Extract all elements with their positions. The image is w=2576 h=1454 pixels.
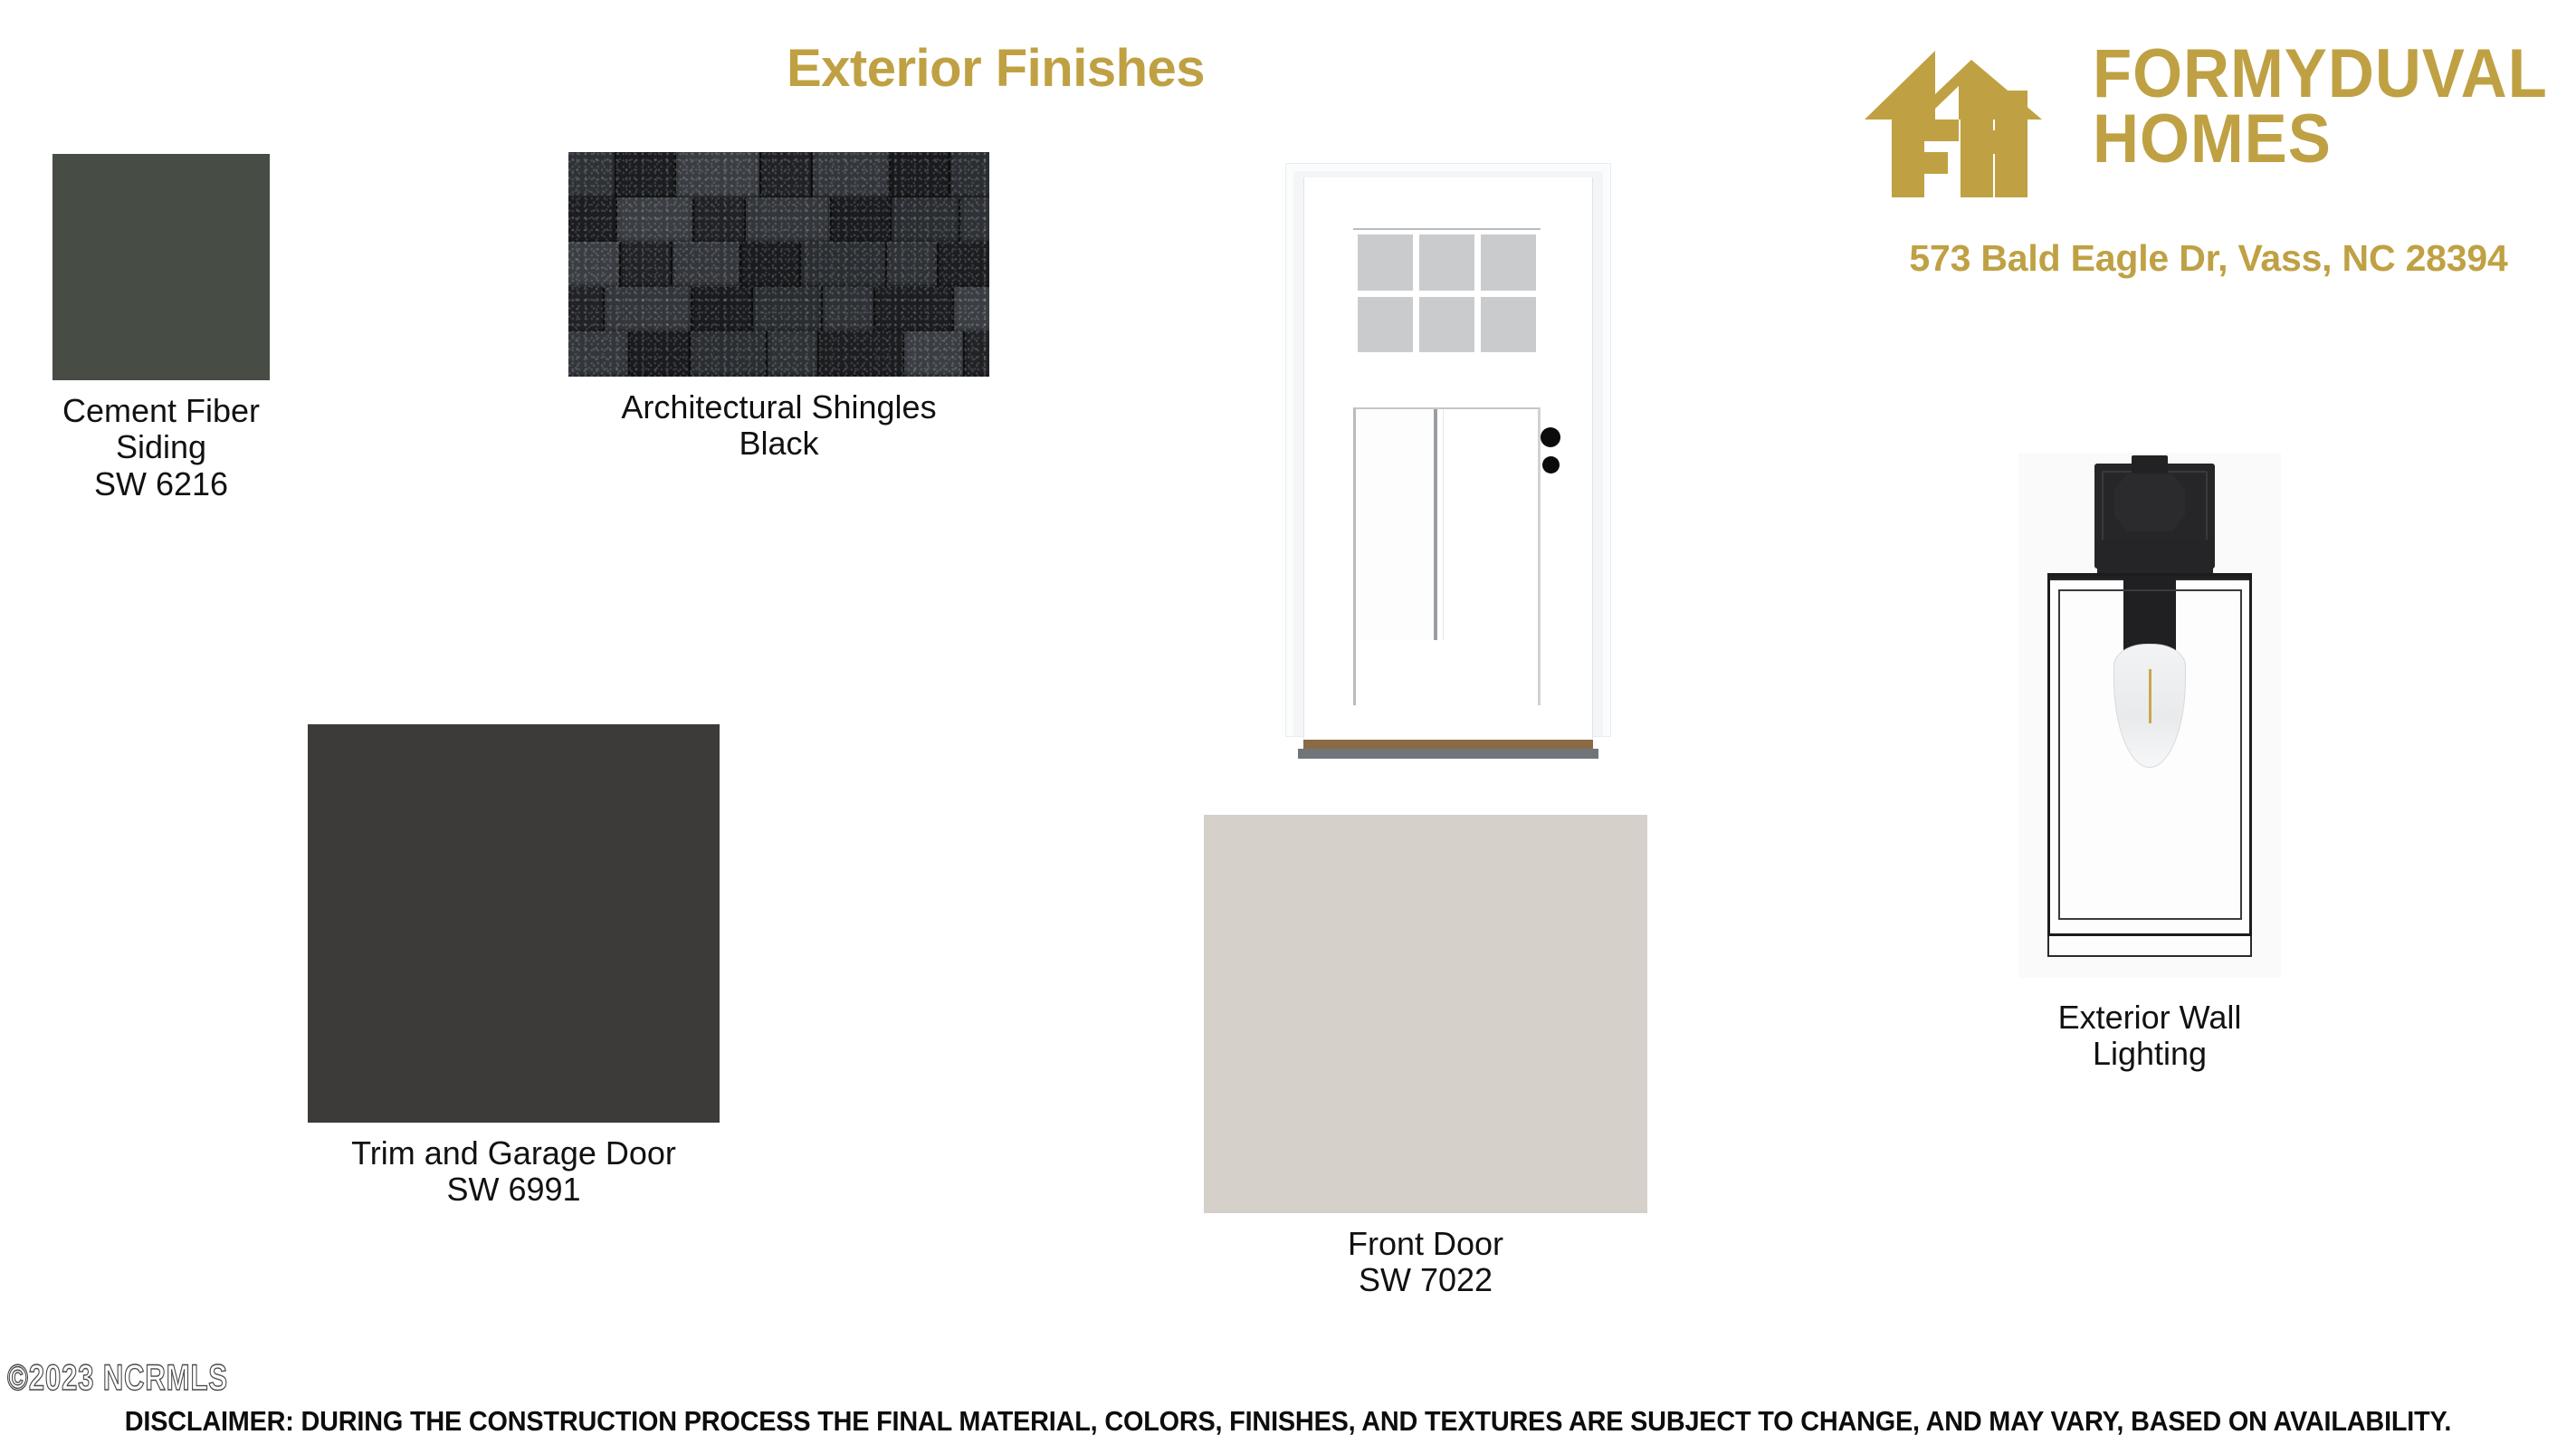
shingle-tab	[950, 152, 989, 198]
shingle-tab	[568, 331, 630, 377]
shingle-tab	[875, 287, 954, 333]
finish-label: Trim and Garage Door	[351, 1134, 676, 1172]
door-lite	[1419, 234, 1474, 291]
shingle-tab	[939, 242, 989, 288]
shingle-tab	[753, 287, 823, 333]
finish-item-exterior-wall-lighting: Exterior Wall Lighting	[2018, 453, 2281, 1073]
caption-architectural-shingles: Architectural Shingles Black	[568, 389, 989, 463]
door-handle-icon	[1541, 427, 1560, 447]
door-window-grid	[1353, 228, 1541, 358]
shingle-tab	[741, 242, 801, 288]
shingle-tab	[832, 197, 892, 244]
finish-item-cement-fiber-siding: Cement Fiber Siding SW 6216	[52, 154, 478, 502]
shingle-tab	[819, 331, 905, 377]
door-lite	[1481, 297, 1536, 353]
door-panel-right	[1443, 409, 1537, 640]
shingle-tab	[673, 242, 741, 288]
shingle-tab	[568, 287, 605, 333]
finish-code: Black	[568, 426, 989, 462]
shingle-tab	[605, 287, 692, 333]
finish-code: SW 6991	[308, 1172, 720, 1208]
shingle-tab	[801, 242, 887, 288]
shingle-tab	[616, 152, 676, 198]
finish-item-front-door: Front Door SW 7022	[1204, 815, 1674, 1299]
shingle-tab	[617, 197, 694, 244]
finish-item-trim-and-garage-door: Trim and Garage Door SW 6991	[308, 724, 733, 1209]
shingle-tab	[676, 152, 762, 198]
shingle-tab	[823, 287, 875, 333]
shingle-tab	[813, 152, 890, 198]
swatch-front-door	[1204, 815, 1647, 1213]
sconce-inner-frame	[2058, 589, 2242, 920]
shingle-tab	[960, 197, 989, 244]
shingle-row	[568, 197, 989, 244]
shingle-tab	[887, 242, 939, 288]
shingle-tab	[965, 331, 989, 377]
shingle-tab	[630, 331, 690, 377]
fh-house-monogram-icon	[1865, 36, 2073, 197]
sconce-knuckle	[2114, 474, 2185, 531]
shingle-tab	[692, 287, 754, 333]
finish-label: Front Door	[1348, 1225, 1503, 1262]
door-lite	[1358, 297, 1413, 353]
finish-code: Lighting	[2018, 1036, 2281, 1072]
wall-sconce-illustration	[2018, 453, 2281, 978]
shingle-row	[568, 242, 989, 288]
brand-logo-block: FORMYDUVAL HOMES 573 Bald Eagle Dr, Vass…	[1865, 36, 2552, 280]
door-panel-left	[1356, 409, 1437, 640]
door-deadbolt-icon	[1542, 456, 1560, 474]
door-panel-area	[1353, 407, 1541, 705]
shingle-tab	[568, 242, 621, 288]
shingle-row	[568, 287, 989, 333]
shingle-tab	[694, 197, 746, 244]
ncrmls-watermark: ©2023 NCRMLS	[7, 1358, 228, 1399]
shingle-tab	[621, 242, 673, 288]
finish-code: SW 7022	[1204, 1262, 1647, 1298]
swatch-trim-and-garage-door	[308, 724, 720, 1123]
shingle-row	[568, 152, 989, 198]
shingle-tab	[954, 287, 989, 333]
caption-exterior-wall-lighting: Exterior Wall Lighting	[2018, 1000, 2281, 1073]
shingle-tab	[891, 152, 950, 198]
shingle-row	[568, 331, 989, 377]
shingle-tab	[904, 331, 964, 377]
finish-label: Architectural Shingles	[621, 388, 936, 426]
shingle-tab	[691, 331, 768, 377]
swatch-cement-fiber-siding	[52, 154, 270, 380]
finish-code: SW 6216	[52, 466, 270, 502]
shingle-tab	[892, 197, 960, 244]
shingle-tab	[761, 152, 813, 198]
swatch-architectural-shingles	[568, 152, 989, 377]
shingle-tab	[568, 197, 617, 244]
shingle-tab	[568, 152, 616, 198]
door-lite	[1481, 234, 1536, 291]
caption-front-door: Front Door SW 7022	[1204, 1226, 1647, 1299]
exterior-finishes-board: Exterior Finishes	[0, 0, 2576, 1454]
finish-label: Exterior Wall	[2058, 999, 2242, 1036]
brand-address: 573 Bald Eagle Dr, Vass, NC 28394	[1865, 237, 2552, 280]
shingle-tab	[746, 197, 832, 244]
caption-trim-and-garage-door: Trim and Garage Door SW 6991	[308, 1135, 720, 1209]
caption-cement-fiber-siding: Cement Fiber Siding SW 6216	[52, 393, 270, 502]
finish-label: Cement Fiber Siding	[62, 392, 260, 465]
door-lite	[1358, 234, 1413, 291]
disclaimer-text: DISCLAIMER: DURING THE CONSTRUCTION PROC…	[91, 1405, 2486, 1438]
finish-item-architectural-shingles: Architectural Shingles Black	[568, 152, 994, 463]
front-door-product-image	[1285, 163, 1611, 760]
door-slab	[1303, 177, 1593, 739]
door-illustration	[1285, 163, 1611, 760]
brand-name-line-2: HOMES	[2093, 107, 2548, 172]
shingle-tab	[768, 331, 819, 377]
page-title: Exterior Finishes	[561, 38, 1430, 99]
door-lite	[1419, 297, 1474, 353]
door-sill	[1298, 749, 1598, 759]
brand-name-line-1: FORMYDUVAL	[2093, 42, 2548, 107]
